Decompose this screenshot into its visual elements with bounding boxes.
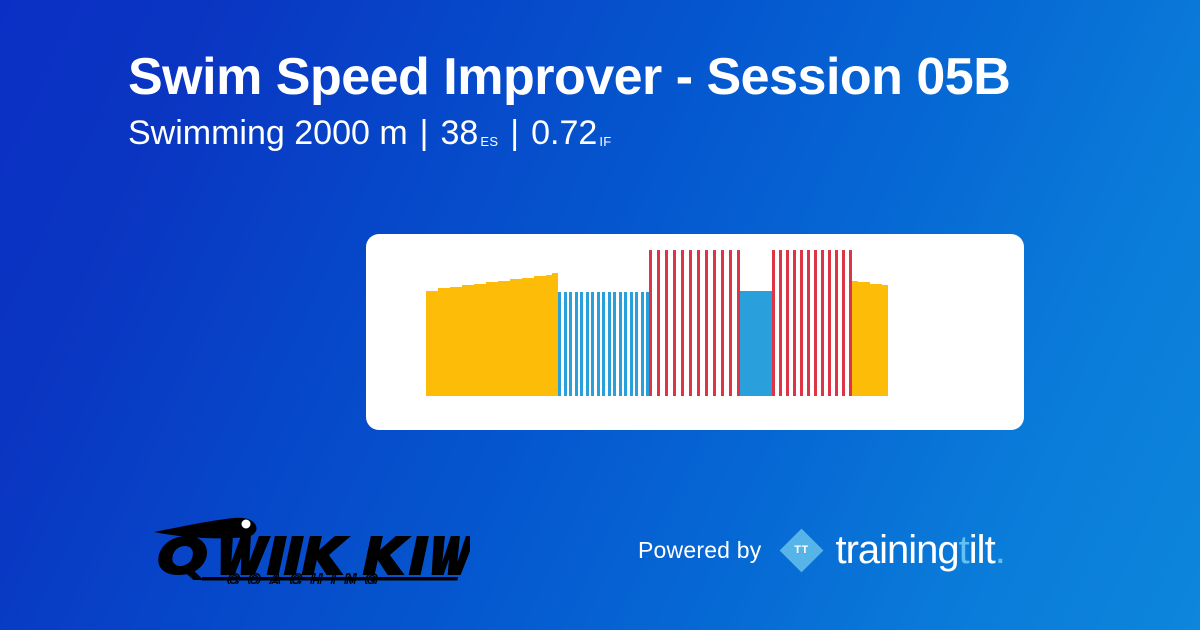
wordmark-ilt: ilt	[969, 530, 995, 570]
effort-score-unit: ES	[480, 134, 498, 150]
wordmark-training: training	[835, 530, 958, 570]
wordmark-dot: .	[995, 530, 1005, 570]
summary-separator-2: |	[498, 112, 531, 155]
chart-segment	[740, 250, 772, 396]
powered-by-label: Powered by	[638, 537, 761, 564]
intensity-factor-unit: IF	[599, 134, 611, 150]
powered-by-block: Powered by TT trainingtilt.	[638, 528, 1005, 572]
chart-segment	[772, 250, 852, 396]
sport-label: Swimming	[128, 112, 285, 155]
badge-initials: TT	[779, 528, 823, 572]
distance-label: 2000 m	[294, 112, 407, 155]
club-logo: COACHING	[150, 512, 470, 584]
chart-segment	[426, 250, 558, 396]
chart-segment	[558, 250, 649, 396]
workout-summary: Swimming 2000 m | 38ES | 0.72IF	[128, 112, 1010, 155]
workout-header: Swim Speed Improver - Session 05B Swimmi…	[128, 48, 1010, 155]
effort-score-value: 38	[441, 112, 479, 155]
qwik-kiwi-logo-icon: COACHING	[150, 512, 470, 584]
training-tilt-wordmark: trainingtilt.	[835, 530, 1004, 570]
chart-bar	[882, 285, 888, 396]
intensity-factor-value: 0.72	[531, 112, 597, 155]
workout-chart	[426, 250, 972, 396]
page-title: Swim Speed Improver - Session 05B	[128, 48, 1010, 106]
chart-bars	[426, 250, 972, 396]
chart-segment	[852, 250, 888, 396]
chart-bar	[740, 291, 772, 396]
wordmark-tilt-t: t	[959, 530, 969, 570]
svg-text:COACHING: COACHING	[226, 571, 389, 584]
summary-separator-1: |	[408, 112, 441, 155]
training-tilt-badge-icon: TT	[779, 528, 823, 572]
chart-segment	[649, 250, 740, 396]
workout-profile-card	[366, 234, 1024, 430]
